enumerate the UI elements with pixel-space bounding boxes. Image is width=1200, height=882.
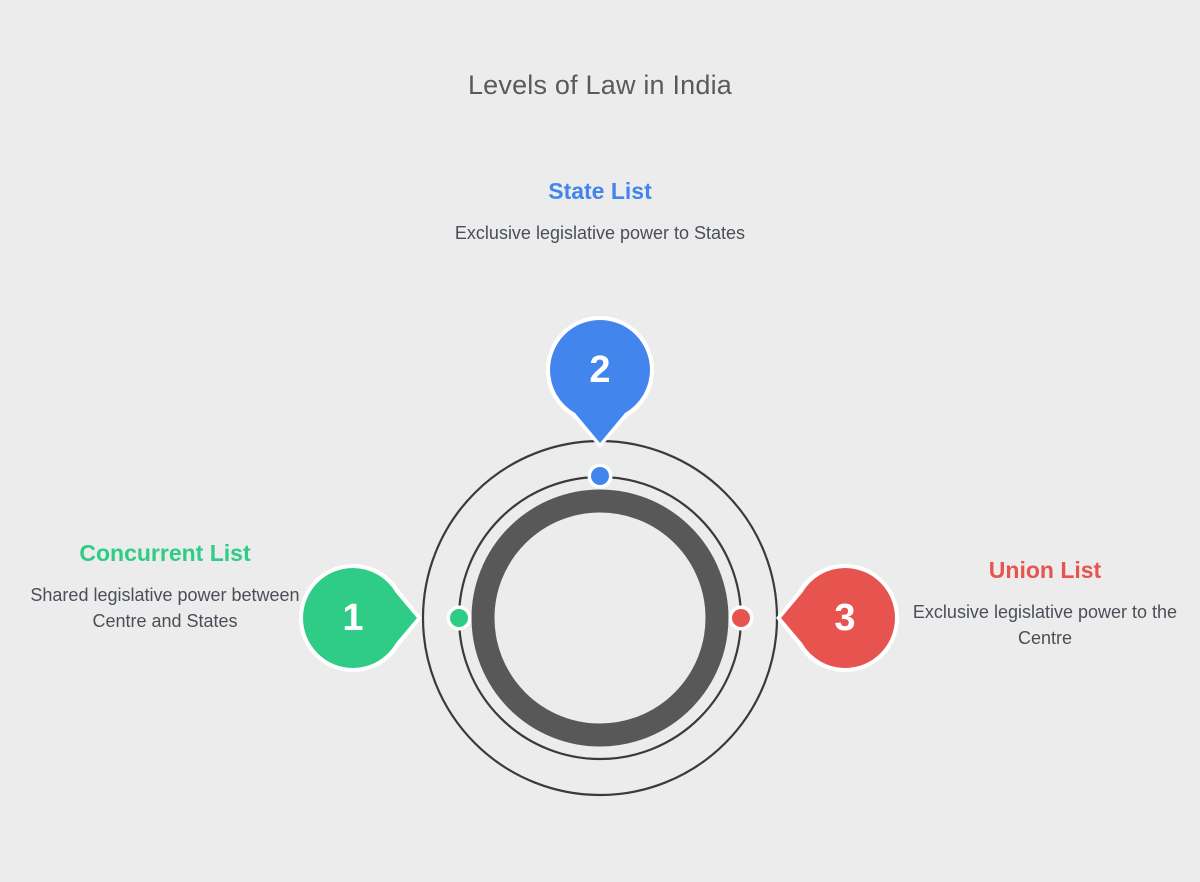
marker-state-group[interactable]: 2 [546, 316, 654, 448]
label-union-list: Union List Exclusive legislative power t… [900, 557, 1190, 651]
inner-thin-ring [459, 477, 741, 759]
core-thick-ring [483, 501, 717, 735]
label-union-list-title: Union List [900, 557, 1190, 585]
label-concurrent-list-title: Concurrent List [20, 540, 310, 568]
marker-concurrent-number: 1 [342, 597, 363, 639]
diagram-canvas: Levels of Law in India 1 2 [0, 0, 1200, 882]
label-concurrent-list: Concurrent List Shared legislative power… [20, 540, 310, 634]
marker-union-group[interactable]: 3 [776, 564, 899, 672]
node-dot-concurrent[interactable] [450, 609, 468, 627]
rings-graphic: 1 2 3 [0, 0, 1200, 882]
marker-concurrent-group[interactable]: 1 [299, 564, 422, 672]
label-concurrent-list-description: Shared legislative power between Centre … [20, 582, 310, 634]
marker-state-number: 2 [589, 349, 610, 391]
label-union-list-description: Exclusive legislative power to the Centr… [900, 599, 1190, 651]
label-state-list-description: Exclusive legislative power to States [420, 220, 780, 246]
node-dot-union[interactable] [732, 609, 750, 627]
label-state-list-title: State List [420, 178, 780, 206]
marker-union-number: 3 [834, 597, 855, 639]
label-state-list: State List Exclusive legislative power t… [420, 178, 780, 246]
node-dot-state[interactable] [591, 467, 609, 485]
